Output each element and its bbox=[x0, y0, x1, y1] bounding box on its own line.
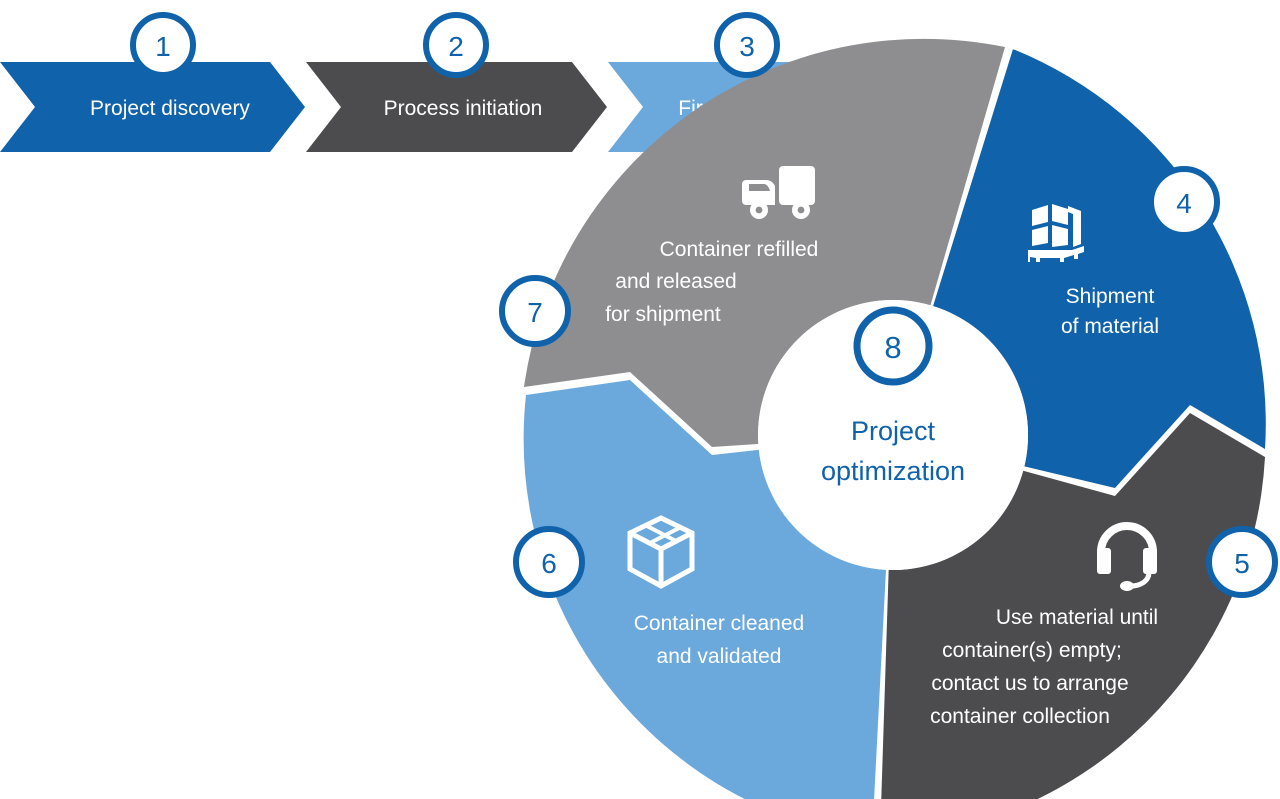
badge-4[interactable]: 4 bbox=[1151, 169, 1217, 235]
center-label-line-1: optimization bbox=[821, 456, 965, 486]
badge-3-number: 3 bbox=[739, 31, 755, 62]
cycle-step-7-label-line-2: for shipment bbox=[605, 303, 721, 326]
badge-7[interactable]: 7 bbox=[502, 278, 568, 344]
banner-step-1-label: Project discovery bbox=[90, 97, 250, 120]
badge-2[interactable]: 2 bbox=[426, 15, 486, 75]
badge-6-number: 6 bbox=[541, 548, 557, 579]
badge-2-number: 2 bbox=[448, 31, 464, 62]
badge-5-number: 5 bbox=[1234, 548, 1250, 579]
cycle-step-6-label-line-0: Container cleaned bbox=[634, 612, 804, 635]
badge-8-number: 8 bbox=[884, 330, 901, 365]
badge-3[interactable]: 3 bbox=[717, 15, 777, 75]
cycle-step-5-label-line-3: container collection bbox=[930, 705, 1110, 728]
cycle-step-7-label-line-0: Container refilled bbox=[660, 238, 819, 261]
badge-4-number: 4 bbox=[1176, 188, 1192, 219]
pallet-icon bbox=[1028, 204, 1084, 262]
cycle-step-5-label-line-1: container(s) empty; bbox=[942, 639, 1122, 662]
badge-7-number: 7 bbox=[527, 297, 543, 328]
badge-1[interactable]: 1 bbox=[133, 15, 193, 75]
banner-step-2-label: Process initiation bbox=[384, 97, 543, 120]
process-diagram-svg: Project discovery Process initiation Fir… bbox=[0, 0, 1280, 799]
cycle-step-5-label-line-2: contact us to arrange bbox=[931, 672, 1128, 695]
center-label-line-0: Project bbox=[851, 416, 936, 446]
badge-6[interactable]: 6 bbox=[516, 529, 582, 595]
cycle-step-6-label-line-1: and validated bbox=[657, 645, 782, 668]
process-diagram-canvas: Project discovery Process initiation Fir… bbox=[0, 0, 1280, 799]
cycle-step-4-label-line-1: of material bbox=[1061, 315, 1159, 338]
cycle-step-4-label-line-0: Shipment bbox=[1066, 285, 1155, 308]
badge-5[interactable]: 5 bbox=[1209, 529, 1275, 595]
badge-1-number: 1 bbox=[155, 31, 171, 62]
cycle-step-7-label-line-1: and released bbox=[615, 270, 736, 293]
cycle-step-5-label-line-0: Use material until bbox=[996, 606, 1158, 629]
